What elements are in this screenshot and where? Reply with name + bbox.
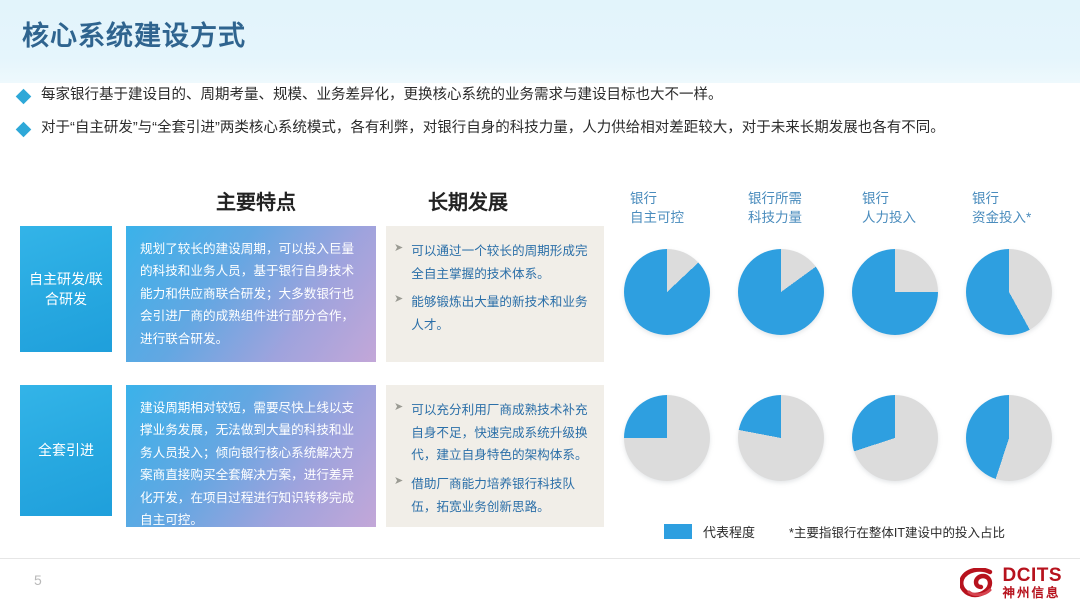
pie-chart [738,249,824,335]
list-item: 对于“自主研发”与“全套引进”两类核心系统模式，各有利弊，对银行自身的科技力量，… [18,119,1068,138]
pie-chart [966,395,1052,481]
diamond-bullet-icon [16,89,32,105]
longterm-text: 借助厂商能力培养银行科技队伍，拓宽业务创新思路。 [411,473,594,518]
list-item: ➤ 可以充分利用厂商成熟技术补充自身不足，快速完成系统升级换代，建立自身特色的架… [394,399,594,467]
pie-chart [852,249,938,335]
arrow-bullet-icon: ➤ [394,294,403,305]
pie-chart [624,395,710,481]
page-number: 5 [34,572,42,588]
pie-category-label: 银行所需科技力量 [748,190,802,227]
column-header-features: 主要特点 [216,186,296,215]
legend-label: 代表程度 [703,522,755,541]
list-item: ➤ 借助厂商能力培养银行科技队伍，拓宽业务创新思路。 [394,473,594,518]
pie-chart [852,395,938,481]
row-longterm-self-developed: ➤ 可以通过一个较长的周期形成完全自主掌握的技术体系。 ➤ 能够锻炼出大量的新技… [386,226,604,362]
column-header-longterm: 长期发展 [428,186,508,215]
footer-divider [0,558,1080,559]
pie-chart [966,249,1052,335]
pie-chart [624,249,710,335]
arrow-bullet-icon: ➤ [394,402,403,413]
chart-footnote: *主要指银行在整体IT建设中的投入占比 [789,522,1005,541]
logo-chinese: 神州信息 [1003,587,1063,600]
pie-category-label: 银行人力投入 [862,190,916,227]
bullet-text: 每家银行基于建设目的、周期考量、规模、业务差异化，更换核心系统的业务需求与建设目… [41,86,723,105]
longterm-text: 可以充分利用厂商成熟技术补充自身不足，快速完成系统升级换代，建立自身特色的架构体… [411,399,594,467]
longterm-text: 可以通过一个较长的周期形成完全自主掌握的技术体系。 [411,240,594,285]
row-label-self-developed: 自主研发/联合研发 [20,226,112,352]
slide-canvas: 核心系统建设方式 每家银行基于建设目的、周期考量、规模、业务差异化，更换核心系统… [0,0,1080,608]
logo-wordmark: DCITS 神州信息 [1003,566,1063,600]
legend-swatch [664,524,692,539]
company-logo: DCITS 神州信息 [960,566,1063,600]
bullet-text: 对于“自主研发”与“全套引进”两类核心系统模式，各有利弊，对银行自身的科技力量，… [41,119,945,138]
list-item: 每家银行基于建设目的、周期考量、规模、业务差异化，更换核心系统的业务需求与建设目… [18,86,1068,105]
diamond-bullet-icon [16,122,32,138]
pie-chart [738,395,824,481]
list-item: ➤ 能够锻炼出大量的新技术和业务人才。 [394,291,594,336]
logo-english: DCITS [1003,566,1063,585]
list-item: ➤ 可以通过一个较长的周期形成完全自主掌握的技术体系。 [394,240,594,285]
arrow-bullet-icon: ➤ [394,243,403,254]
longterm-text: 能够锻炼出大量的新技术和业务人才。 [411,291,594,336]
row-features-self-developed: 规划了较长的建设周期，可以投入巨量的科技和业务人员，基于银行自身技术能力和供应商… [126,226,376,362]
row-longterm-full-import: ➤ 可以充分利用厂商成熟技术补充自身不足，快速完成系统升级换代，建立自身特色的架… [386,385,604,527]
pie-category-label: 银行自主可控 [630,190,684,227]
chart-legend: 代表程度 *主要指银行在整体IT建设中的投入占比 [664,522,1005,541]
row-label-full-import: 全套引进 [20,385,112,516]
page-title: 核心系统建设方式 [22,14,246,53]
arrow-bullet-icon: ➤ [394,476,403,487]
dcits-swirl-icon [960,568,996,598]
bullet-list: 每家银行基于建设目的、周期考量、规模、业务差异化，更换核心系统的业务需求与建设目… [18,86,1068,152]
pie-category-label: 银行资金投入* [972,190,1031,227]
row-features-full-import: 建设周期相对较短，需要尽快上线以支撑业务发展，无法做到大量的科技和业务人员投入；… [126,385,376,527]
